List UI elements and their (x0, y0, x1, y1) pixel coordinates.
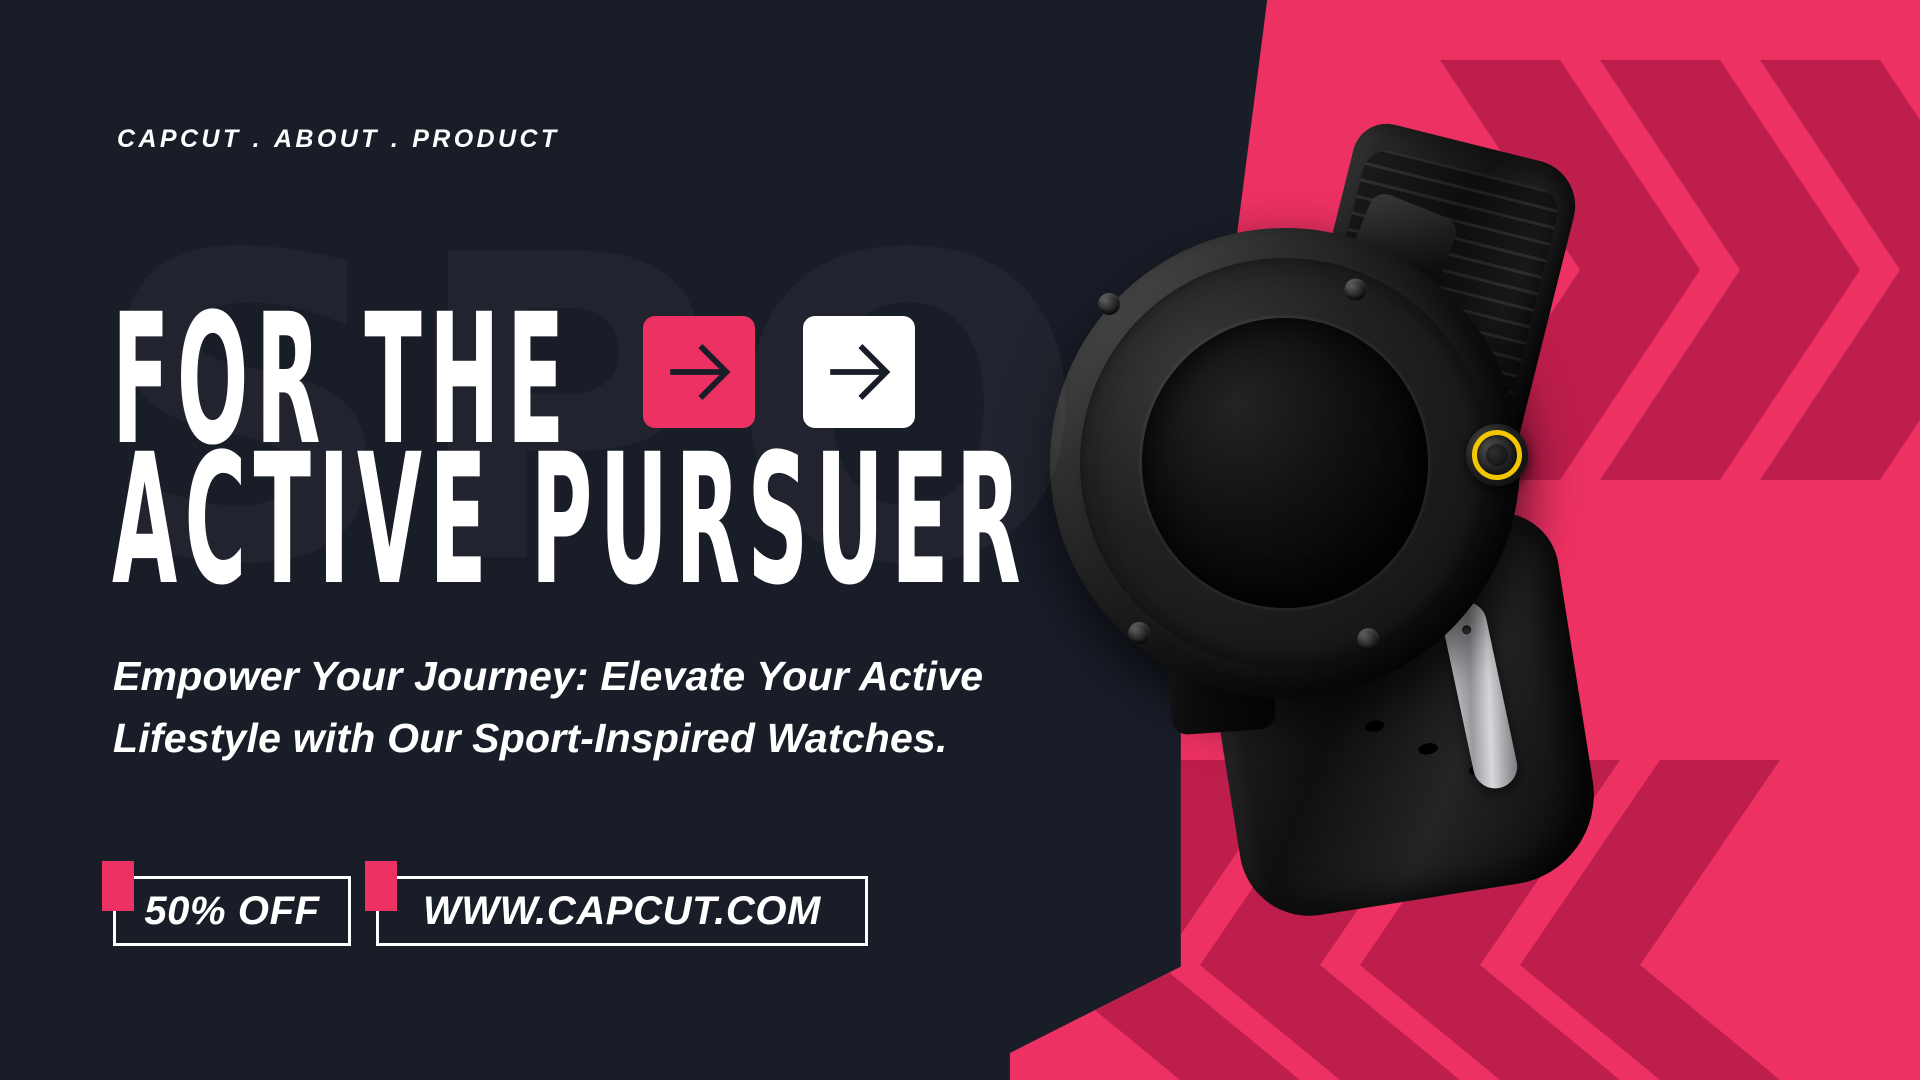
headline-line-2: ACTIVE PURSUER (112, 438, 1028, 604)
arrow-right-primary-button[interactable] (643, 316, 755, 428)
nav-separator: . (380, 125, 412, 153)
hero-subtitle: Empower Your Journey: Elevate Your Activ… (113, 645, 993, 770)
arrow-right-secondary-button[interactable] (803, 316, 915, 428)
subtitle-line-2: Lifestyle with Our Sport-Inspired Watche… (113, 715, 948, 761)
content-layer: SPO CAPCUT.ABOUT.PRODUCT FOR THE ACTIVE … (0, 0, 1920, 1080)
promo-banner: SPO CAPCUT.ABOUT.PRODUCT FOR THE ACTIVE … (0, 0, 1920, 1080)
nav-item-about[interactable]: ABOUT (274, 125, 380, 153)
discount-badge[interactable]: 50% OFF (113, 876, 351, 946)
badge-corner-accent (102, 861, 134, 911)
subtitle-line-1: Empower Your Journey: Elevate Your Activ… (113, 653, 983, 699)
website-badge-label: WWW.CAPCUT.COM (423, 889, 821, 934)
discount-badge-label: 50% OFF (144, 889, 319, 934)
arrow-right-icon (823, 336, 895, 408)
nav-item-product[interactable]: PRODUCT (412, 125, 559, 153)
badge-corner-accent (365, 861, 397, 911)
badge-row: 50% OFF WWW.CAPCUT.COM (113, 876, 868, 946)
nav-item-capcut[interactable]: CAPCUT (117, 125, 242, 153)
arrow-right-icon (663, 336, 735, 408)
website-badge[interactable]: WWW.CAPCUT.COM (376, 876, 868, 946)
top-navigation: CAPCUT.ABOUT.PRODUCT (117, 125, 560, 154)
nav-separator: . (242, 125, 274, 153)
